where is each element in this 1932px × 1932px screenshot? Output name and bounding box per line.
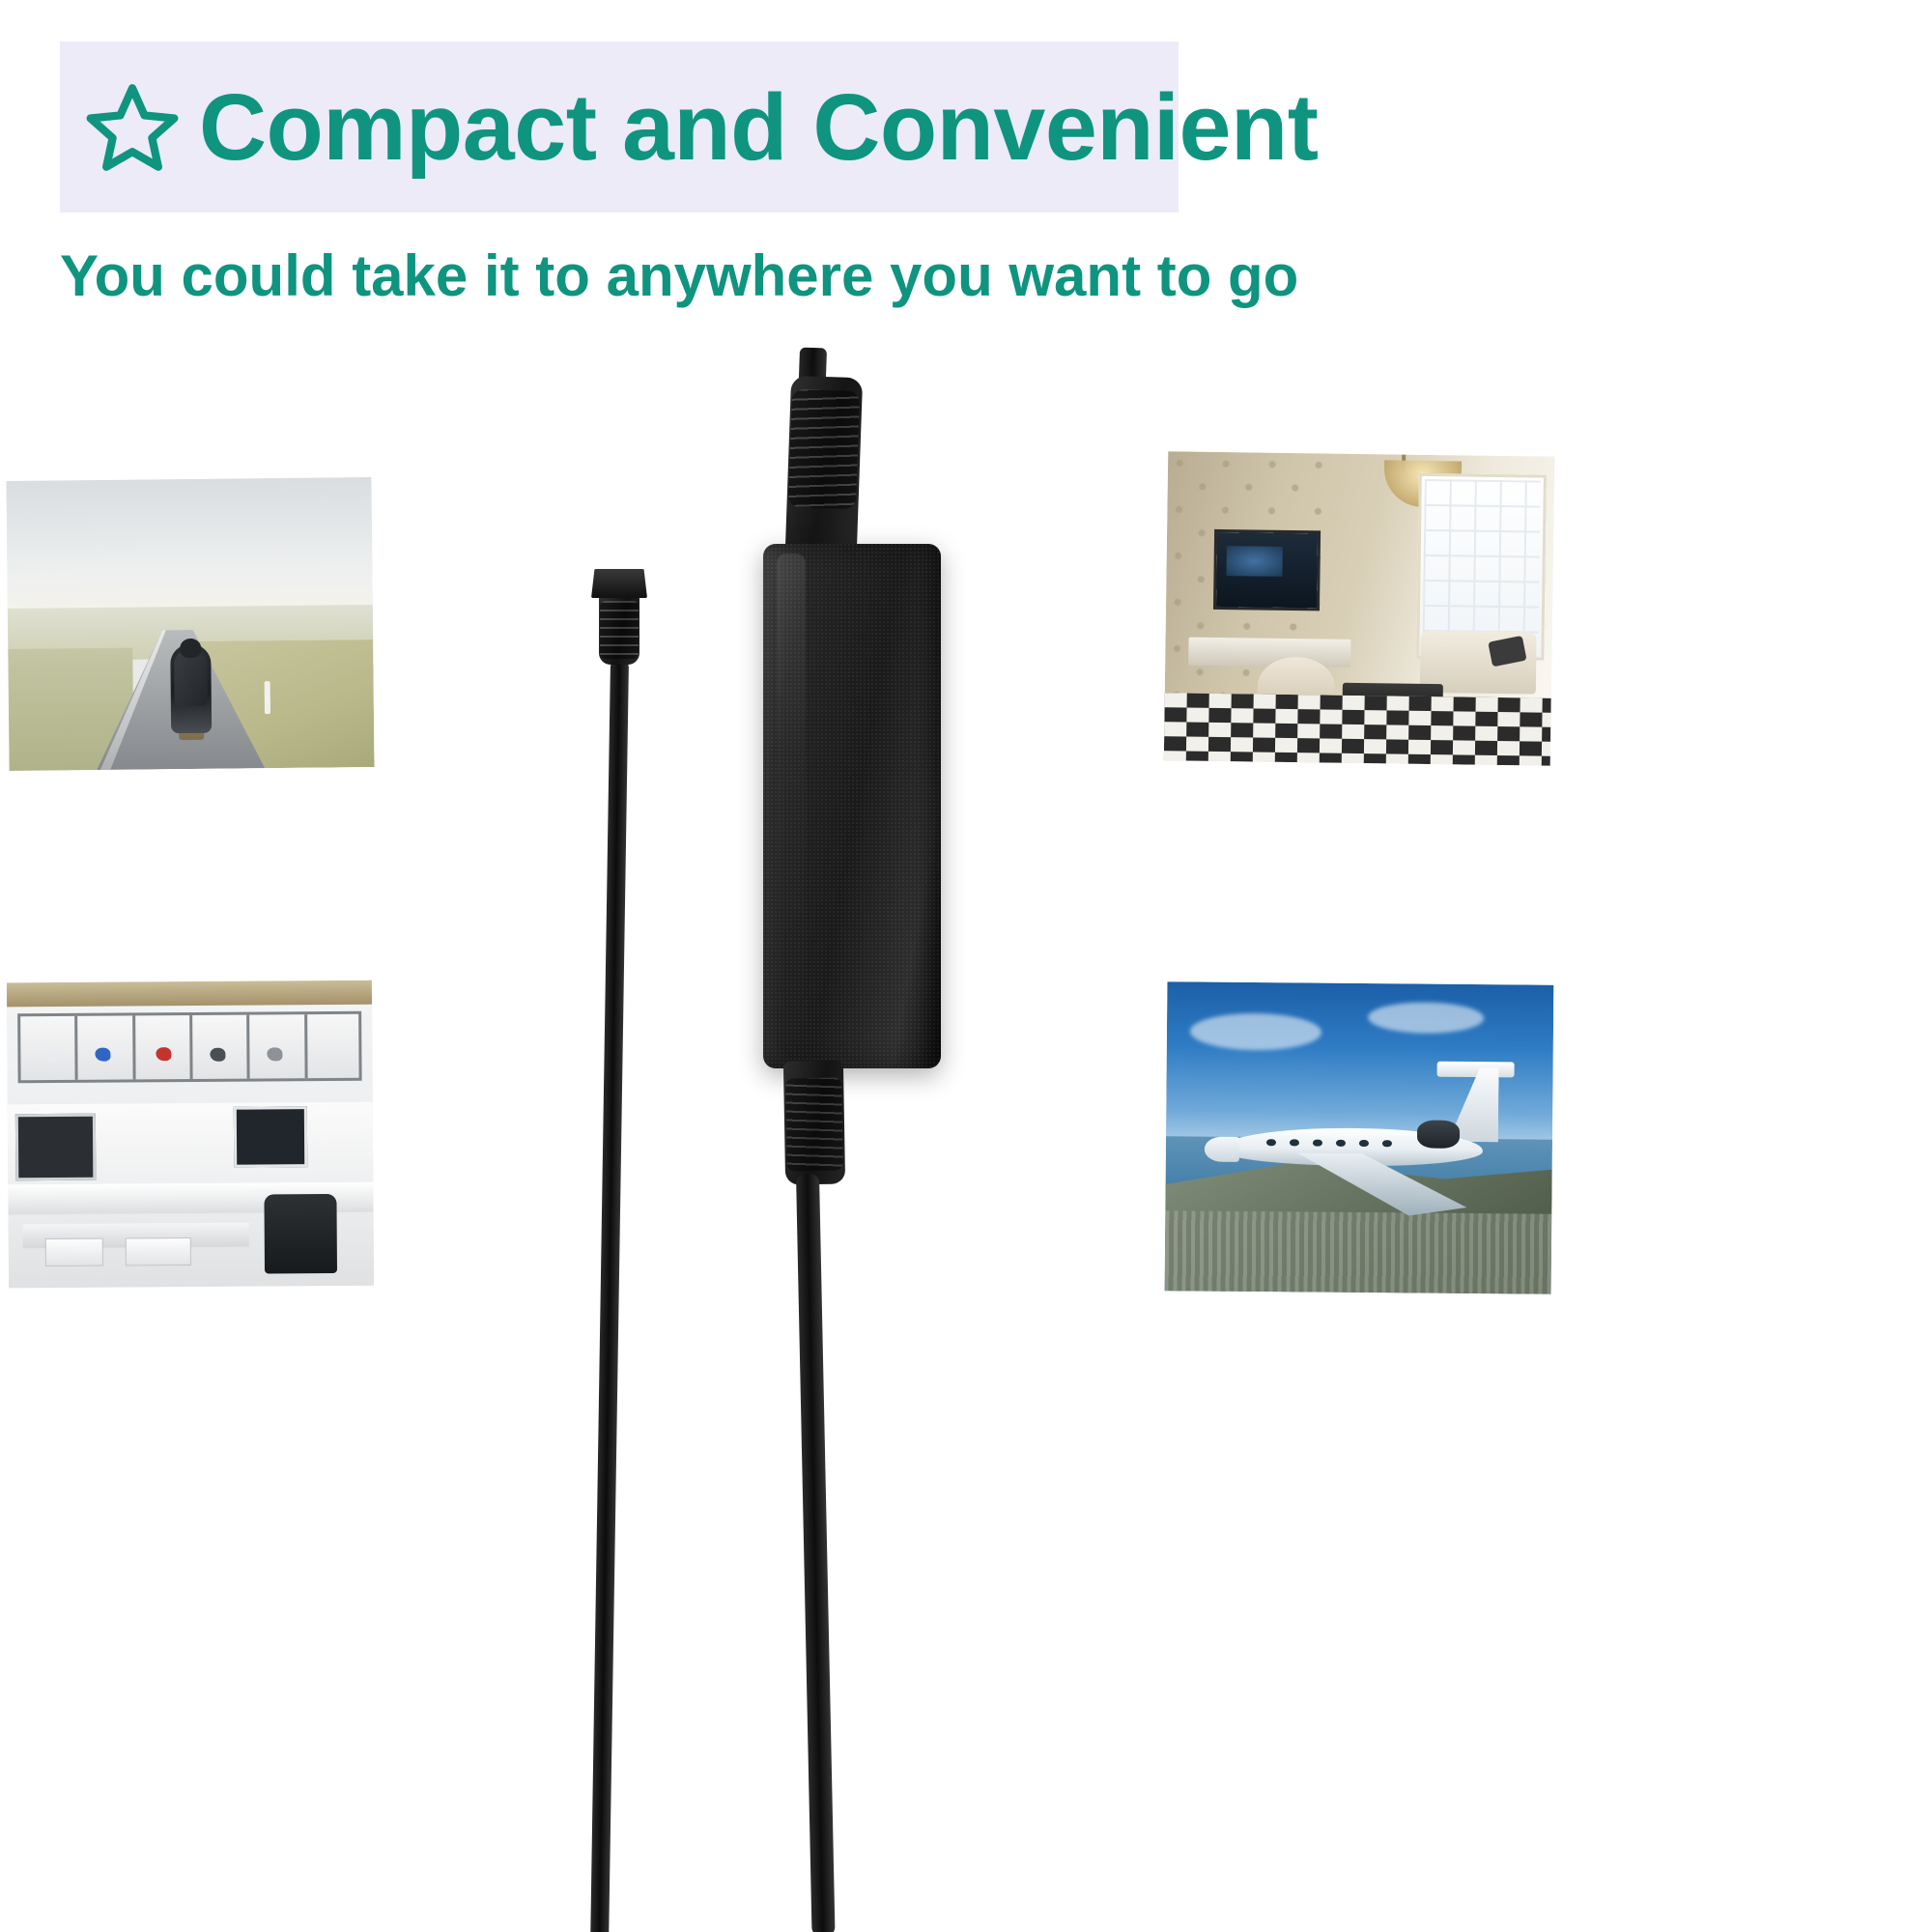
dc-connector-cable (590, 659, 629, 1932)
brick-highlight (777, 554, 806, 1059)
ac-power-adapter (0, 0, 1932, 1932)
dc-barrel-connector (591, 569, 647, 598)
infographic-canvas: Compact and Convenient You could take it… (0, 0, 1932, 1932)
ac-input-relief-ribs (788, 389, 860, 509)
dc-connector-ribs (600, 601, 639, 659)
dc-output-relief-ribs (785, 1078, 843, 1172)
dc-output-cable (796, 1174, 836, 1932)
adapter-brick (763, 544, 941, 1068)
